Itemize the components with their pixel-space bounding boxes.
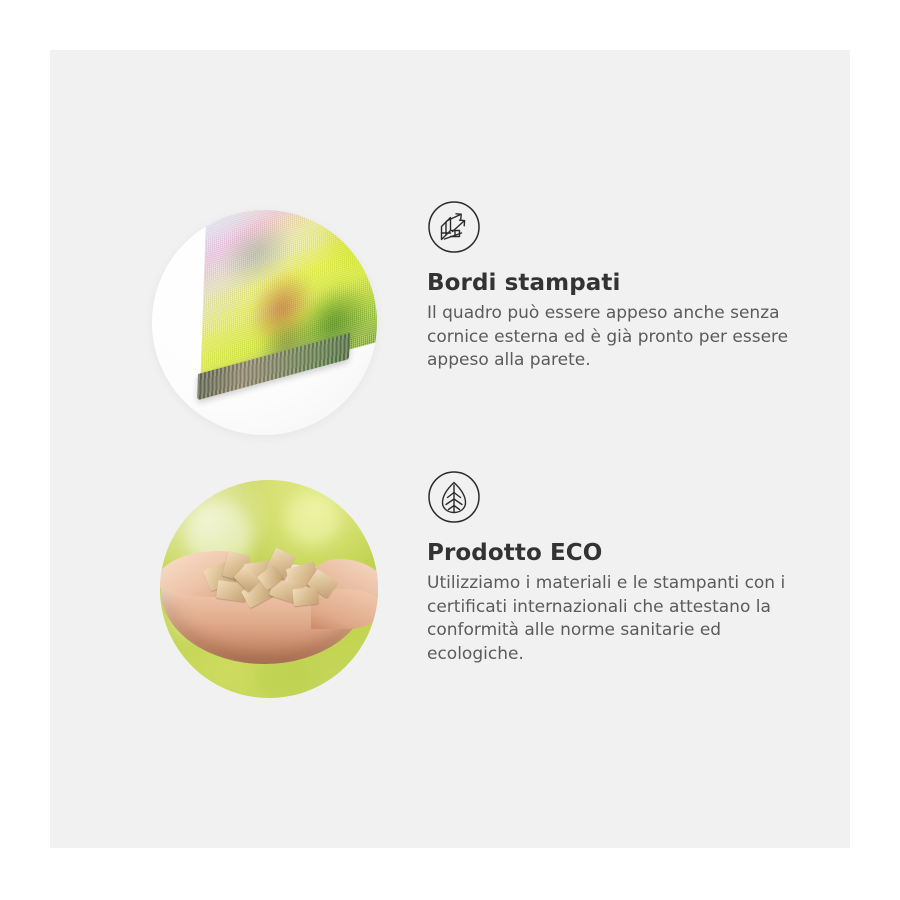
feature-text-printed-edges: Il quadro può essere appeso anche senza … bbox=[427, 302, 799, 373]
feature-title-printed-edges: Bordi stampati bbox=[427, 270, 799, 296]
cupped-hands-illustration bbox=[160, 545, 378, 680]
woodchip-pile bbox=[203, 548, 340, 613]
bokeh-highlight bbox=[286, 493, 338, 545]
feature-text-eco: Utilizziamo i materiali e le stampanti c… bbox=[427, 572, 799, 666]
feature-body-eco: Prodotto ECO Utilizziamo i materiali e l… bbox=[427, 470, 799, 666]
canvas-corner-illustration bbox=[200, 210, 377, 418]
feature-body-printed-edges: Bordi stampati Il quadro può essere appe… bbox=[427, 200, 799, 373]
content-panel: Bordi stampati Il quadro può essere appe… bbox=[50, 50, 850, 848]
feature-media-printed-edges bbox=[50, 190, 300, 440]
feature-media-eco bbox=[50, 460, 300, 710]
canvas-wrapped-edge-icon bbox=[427, 200, 481, 254]
paint-splash bbox=[315, 210, 377, 281]
hands-holding-woodchips-photo bbox=[160, 480, 378, 698]
printed-canvas-corner-photo bbox=[152, 210, 377, 435]
leaf-icon bbox=[427, 470, 481, 524]
woodchip bbox=[292, 587, 318, 606]
product-feature-infographic: Bordi stampati Il quadro può essere appe… bbox=[0, 0, 900, 900]
feature-title-eco: Prodotto ECO bbox=[427, 540, 799, 566]
